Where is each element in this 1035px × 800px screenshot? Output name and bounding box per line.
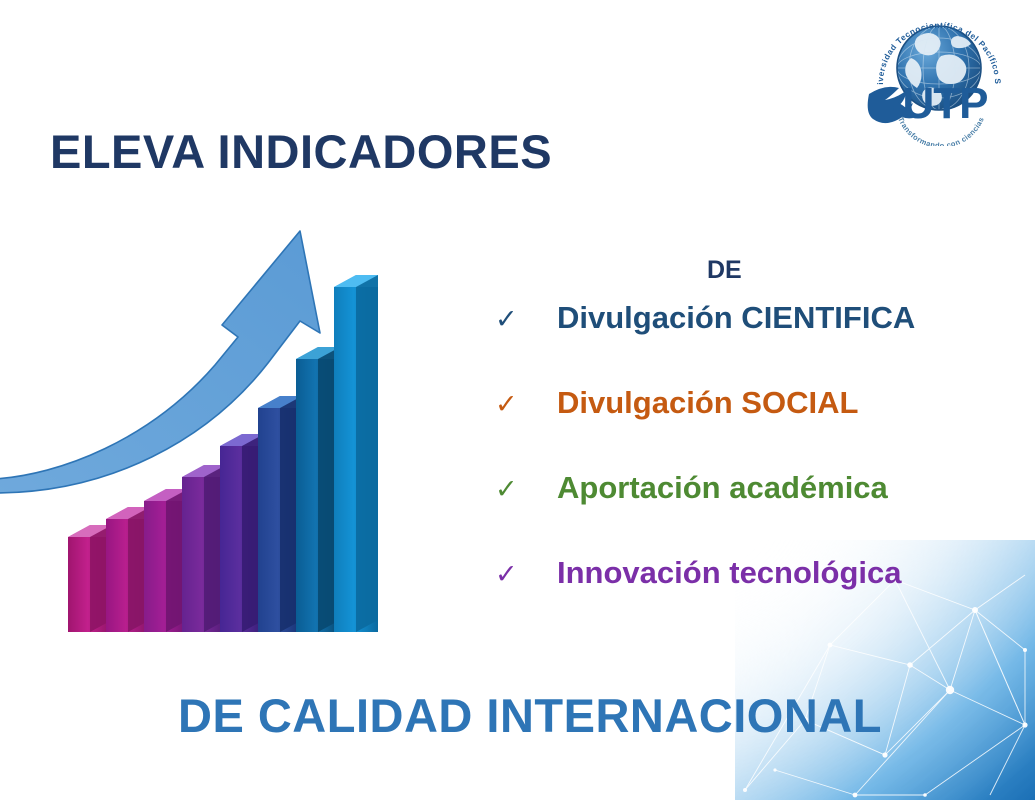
bar-2 <box>106 507 150 632</box>
list-item-label: Innovación tecnológica <box>557 555 902 591</box>
list-item[interactable]: ✓ Divulgación SOCIAL <box>495 385 1005 470</box>
list-item-label: Aportación académica <box>557 470 888 506</box>
bar-6 <box>258 396 302 632</box>
bar-3 <box>144 489 188 632</box>
check-icon: ✓ <box>495 561 557 588</box>
bar-8 <box>334 275 378 632</box>
list-item[interactable]: ✓ Aportación académica <box>495 470 1005 555</box>
check-icon: ✓ <box>495 306 557 333</box>
page-title: ELEVA INDICADORES <box>50 124 552 179</box>
bullet-list: ✓ Divulgación CIENTIFICA ✓ Divulgación S… <box>495 300 1005 640</box>
bar-4 <box>182 465 226 632</box>
bar-5 <box>220 434 264 632</box>
list-item-label: Divulgación SOCIAL <box>557 385 858 421</box>
page-subtitle: DE CALIDAD INTERNACIONAL <box>178 688 882 743</box>
logo-acronym: UTP <box>903 79 988 128</box>
bar-1 <box>68 525 112 632</box>
list-heading: DE <box>707 256 742 285</box>
slide: Universidad Tecnocientífica del Pacífico… <box>0 0 1035 800</box>
list-item[interactable]: ✓ Innovación tecnológica <box>495 555 1005 640</box>
bar-7 <box>296 347 340 632</box>
list-item-label: Divulgación CIENTIFICA <box>557 300 915 336</box>
growth-bar-chart-graphic <box>0 225 440 645</box>
check-icon: ✓ <box>495 391 557 418</box>
utp-logo: Universidad Tecnocientífica del Pacífico… <box>861 6 1021 146</box>
check-icon: ✓ <box>495 476 557 503</box>
list-item[interactable]: ✓ Divulgación CIENTIFICA <box>495 300 1005 385</box>
